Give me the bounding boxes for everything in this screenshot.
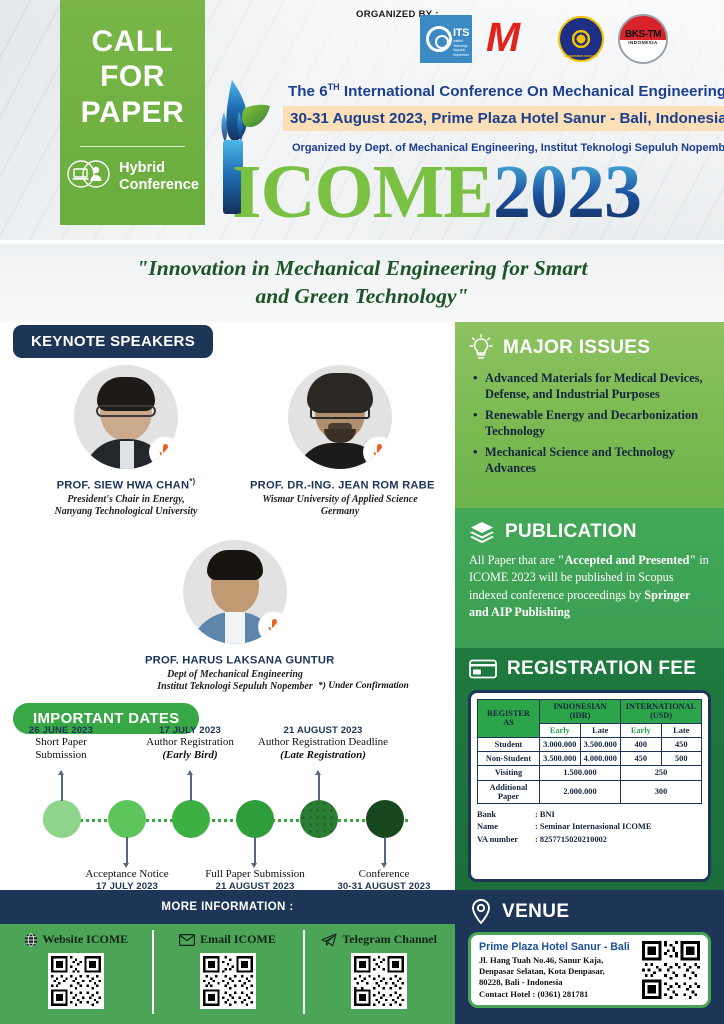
additional-paper-usd: 300 <box>621 780 702 804</box>
table-subheader-usd-early: Early <box>621 723 662 737</box>
additional-paper-line1: Additional <box>490 783 528 792</box>
registration-fee-card: REGISTER AS INDONESIAN (IDR) INTERNATION… <box>468 690 711 882</box>
timeline-desc-1: Short Paper Submission <box>5 736 117 762</box>
website-qr-image <box>51 956 101 1006</box>
speaker-affiliation-line2-1: Nanyang Technological University <box>55 506 198 517</box>
telegram-label: Telegram Channel <box>342 932 437 947</box>
bkstm-logo: BKS-TM INDONESIA <box>618 14 668 64</box>
timeline-desc-5: Author Registration Deadline (Late Regis… <box>236 736 410 762</box>
table-row: Additional Paper 2.000.000 300 <box>478 780 702 804</box>
table-row: Student 3.000.000 3.500.000 400 450 <box>478 737 702 751</box>
speaker-photo-2 <box>288 365 392 469</box>
timeline-desc-2: Acceptance Notice <box>62 868 192 881</box>
visiting-usd: 250 <box>621 766 702 780</box>
timeline-stem-1 <box>61 775 63 801</box>
more-information-bar: MORE INFORMATION : <box>0 890 455 924</box>
website-label: Website ICOME <box>43 932 129 947</box>
speaker-mic-icon-2 <box>364 437 392 467</box>
keynote-speakers-heading: KEYNOTE SPEAKERS <box>13 325 213 358</box>
icome-logo-year: 2023 <box>493 158 641 226</box>
timeline-dot-4 <box>236 800 274 838</box>
timeline-desc-line1-1: Short Paper <box>35 736 87 748</box>
email-qr-code[interactable] <box>200 953 256 1009</box>
speaker-photo-3 <box>183 540 287 644</box>
conference-tagline: "Innovation in Mechanical Engineering fo… <box>0 244 724 322</box>
venue-address-line1: Jl. Hang Tuah No.46, Sanur Kaja, <box>479 955 603 965</box>
universitas-udayana-logo: UNIVERSITAS UDAYANA <box>558 16 604 62</box>
speaker-affiliation-line1-2: Wismar University of Applied Science <box>262 494 417 505</box>
venue-contact: Contact Hotel : (0361) 281781 <box>479 989 588 999</box>
major-issue-item: Mechanical Science and Technology Advanc… <box>473 444 710 477</box>
register-as-line1: REGISTER <box>487 709 530 718</box>
publication-text-part1: All Paper that are <box>469 553 558 567</box>
table-subheader-idr-early: Early <box>540 723 581 737</box>
major-issue-item: Advanced Materials for Medical Devices, … <box>473 370 710 403</box>
international-line1: INTERNATIONAL <box>626 702 696 711</box>
student-idr-late: 3.500.000 <box>580 737 621 751</box>
speaker-name-2: PROF. DR.-ING. JEAN ROM RABE <box>250 477 430 492</box>
timeline-date-5: 21 AUGUST 2023 <box>236 725 410 736</box>
speaker-card-3: PROF. HARUS LAKSANA GUNTUR Dept of Mecha… <box>145 540 325 694</box>
conference-date-venue: 30-31 August 2023, Prime Plaza Hotel San… <box>290 110 724 127</box>
venue-title: VENUE <box>502 901 569 923</box>
bank-key: Bank <box>477 809 535 821</box>
contact-channel-email[interactable]: Email ICOME <box>152 924 304 1024</box>
major-issues-panel: MAJOR ISSUES Advanced Materials for Medi… <box>455 322 724 508</box>
registration-fee-table: REGISTER AS INDONESIAN (IDR) INTERNATION… <box>477 699 702 804</box>
timeline-arrow-3 <box>187 770 193 775</box>
email-label-row: Email ICOME <box>179 932 276 947</box>
speaker-affiliation-3: Dept of Mechanical Engineering Institut … <box>145 669 325 694</box>
lightbulb-icon <box>469 334 493 362</box>
conference-date-band: 30-31 August 2023, Prime Plaza Hotel San… <box>283 106 724 131</box>
venue-card: Prime Plaza Hotel Sanur - Bali Jl. Hang … <box>468 932 711 1008</box>
table-header-register-as: REGISTER AS <box>478 700 540 738</box>
more-information-body: Website ICOME <box>0 924 455 1024</box>
speaker-card-1: PROF. SIEW HWA CHAN*) President's Chair … <box>46 365 206 519</box>
timeline-arrow-1 <box>58 770 64 775</box>
publication-panel: PUBLICATION All Paper that are "Accepted… <box>455 508 724 648</box>
additional-paper-idr: 2.000.000 <box>540 780 621 804</box>
bkstm-logo-subtext: INDONESIA <box>620 40 666 45</box>
publication-title: PUBLICATION <box>505 521 637 543</box>
map-pin-icon <box>469 898 493 926</box>
contact-channel-website[interactable]: Website ICOME <box>0 924 152 1024</box>
row-label-additional-paper: Additional Paper <box>478 780 540 804</box>
timeline-desc-line2-3: (Early Bird) <box>162 749 217 761</box>
timeline-desc-line2-5: (Late Registration) <box>280 749 366 761</box>
right-column: MAJOR ISSUES Advanced Materials for Medi… <box>455 322 724 890</box>
speaker-name-text-3: PROF. HARUS LAKSANA GUNTUR <box>145 655 334 667</box>
student-usd-early: 400 <box>621 737 662 751</box>
venue-qr-code[interactable] <box>642 941 700 999</box>
table-header-international: INTERNATIONAL (USD) <box>621 700 702 724</box>
hybrid-conference-row: Hybrid Conference <box>60 159 205 194</box>
register-as-line2: AS <box>503 718 514 727</box>
its-logo-text: ITS <box>453 27 469 39</box>
timeline-label-6: Conference 30-31 AUGUST 2023 <box>314 868 454 892</box>
left-column: KEYNOTE SPEAKERS PROF. SIEW HWA CHAN*) P… <box>0 322 455 890</box>
speaker-affiliation-line2-3: Institut Teknologi Sepuluh Nopember <box>157 681 313 692</box>
speaker-name-text-1: PROF. SIEW HWA CHAN <box>57 480 190 492</box>
hybrid-label-line2: Conference <box>119 177 199 193</box>
speaker-name-text-2: PROF. DR.-ING. JEAN ROM RABE <box>250 480 435 492</box>
registration-fee-header: REGISTRATION FEE <box>455 648 724 688</box>
major-issues-title: MAJOR ISSUES <box>503 337 650 359</box>
speaker-card-2: PROF. DR.-ING. JEAN ROM RABE Wismar Univ… <box>250 365 430 519</box>
venue-text-block: Prime Plaza Hotel Sanur - Bali Jl. Hang … <box>479 941 636 999</box>
cfp-line-3: PAPER <box>60 95 205 130</box>
row-label-visiting: Visiting <box>478 766 540 780</box>
telegram-qr-image <box>354 956 404 1006</box>
important-dates-timeline: 26 JUNE 2023 Short Paper Submission Acce… <box>0 737 455 887</box>
additional-paper-line2: Paper <box>498 792 519 801</box>
timeline-desc-line1-3: Author Registration <box>146 736 234 748</box>
speaker-affiliation-2: Wismar University of Applied Science Ger… <box>250 494 430 519</box>
timeline-date-1: 26 JUNE 2023 <box>5 725 117 736</box>
major-issues-list: Advanced Materials for Medical Devices, … <box>473 370 710 476</box>
its-gear-icon <box>426 26 452 52</box>
table-row: Non-Student 3.500.000 4.000.000 450 500 <box>478 752 702 766</box>
udayana-logo-text: UNIVERSITAS UDAYANA <box>560 54 602 58</box>
speaker-affiliation-1: President's Chair in Energy, Nanyang Tec… <box>46 494 206 519</box>
international-line2: (USD) <box>650 711 672 720</box>
website-qr-code[interactable] <box>48 953 104 1009</box>
speaker-affiliation-line1-3: Dept of Mechanical Engineering <box>167 669 303 680</box>
telegram-label-row: Telegram Channel <box>321 932 437 947</box>
email-qr-image <box>203 956 253 1006</box>
table-header-row-1: REGISTER AS INDONESIAN (IDR) INTERNATION… <box>478 700 702 724</box>
hybrid-conference-label: Hybrid Conference <box>119 160 199 193</box>
timeline-stem-4 <box>254 837 256 863</box>
venue-address-line2: Denpasar Selatan, Kota Denpasar, <box>479 966 605 976</box>
timeline-dot-5 <box>300 800 338 838</box>
stack-layers-icon <box>469 520 495 544</box>
speaker-name-1: PROF. SIEW HWA CHAN*) <box>46 477 206 492</box>
bank-row: Bank : BNI <box>477 809 702 821</box>
bank-value: : 8257715020210002 <box>535 834 607 846</box>
speaker-star-1: *) <box>189 477 195 486</box>
conference-title-pre: The 6 <box>288 83 328 100</box>
student-usd-late: 450 <box>661 737 702 751</box>
venue-address: Jl. Hang Tuah No.46, Sanur Kaja, Denpasa… <box>479 955 636 1000</box>
timeline-stem-5 <box>318 775 320 801</box>
timeline-desc-line2-1: Submission <box>35 749 86 761</box>
timeline-dot-2 <box>108 800 146 838</box>
organizer-logos: ITS Institut Teknologi Sepuluh Nopember … <box>420 14 668 64</box>
timeline-stem-6 <box>384 837 386 863</box>
non-student-usd-early: 450 <box>621 752 662 766</box>
row-label-student: Student <box>478 737 540 751</box>
venue-panel: VENUE Prime Plaza Hotel Sanur - Bali Jl.… <box>455 890 724 1024</box>
icome-wordmark: ICOME 2023 <box>232 158 641 226</box>
venue-address-line3: 80228, Bali - Indonesia <box>479 977 563 987</box>
visiting-idr: 1.500.000 <box>540 766 621 780</box>
bank-row: Name : Seminar Internasional ICOME <box>477 821 702 833</box>
its-logo: ITS Institut Teknologi Sepuluh Nopember <box>420 15 472 63</box>
globe-icon <box>24 933 38 947</box>
conference-title-ordinal: TH <box>328 82 340 92</box>
envelope-icon <box>179 934 195 946</box>
telegram-icon <box>321 933 337 947</box>
bank-value: : BNI <box>535 809 555 821</box>
cfp-line-2: FOR <box>60 59 205 94</box>
hybrid-conference-icon <box>66 159 112 194</box>
table-header-indonesian: INDONESIAN (IDR) <box>540 700 621 724</box>
bank-value: : Seminar Internasional ICOME <box>535 821 651 833</box>
row-label-non-student: Non-Student <box>478 752 540 766</box>
speaker-photo-1 <box>74 365 178 469</box>
timeline-dot-6 <box>366 800 404 838</box>
speaker-mic-icon-3 <box>259 612 287 642</box>
venue-header: VENUE <box>455 890 724 930</box>
bank-key: VA number <box>477 834 535 846</box>
non-student-idr-early: 3.500.000 <box>540 752 581 766</box>
speaker-mic-icon-1 <box>150 437 178 467</box>
timeline-dot-3 <box>172 800 210 838</box>
website-label-row: Website ICOME <box>24 932 129 947</box>
more-information-heading: MORE INFORMATION : <box>161 901 293 913</box>
table-subheader-usd-late: Late <box>661 723 702 737</box>
timeline-stem-2 <box>126 837 128 863</box>
table-subheader-idr-late: Late <box>580 723 621 737</box>
m-logo: M <box>486 18 544 60</box>
timeline-desc-line1-5: Author Registration Deadline <box>258 736 388 748</box>
timeline-stem-3 <box>190 775 192 801</box>
cfp-divider <box>80 146 185 147</box>
credit-card-icon <box>469 659 497 679</box>
indonesian-line1: INDONESIAN <box>553 702 606 711</box>
tagline-line-2: and Green Technology" <box>255 283 468 311</box>
top-banner: CALL FOR PAPER Hybrid Confe <box>0 0 724 240</box>
timeline-arrow-5 <box>315 770 321 775</box>
publication-body: All Paper that are "Accepted and Present… <box>469 552 710 621</box>
tagline-line-1: "Innovation in Mechanical Engineering fo… <box>137 255 588 283</box>
call-for-paper-box: CALL FOR PAPER Hybrid Confe <box>60 0 205 225</box>
timeline-connector <box>43 819 408 822</box>
email-label: Email ICOME <box>200 932 276 947</box>
hybrid-label-line1: Hybrid <box>119 160 165 176</box>
timeline-label-4: Full Paper Submission 21 AUGUST 2023 <box>188 868 322 892</box>
speaker-affiliation-line1-1: President's Chair in Energy, <box>67 494 184 505</box>
publication-header: PUBLICATION <box>455 508 724 552</box>
venue-hotel-name: Prime Plaza Hotel Sanur - Bali <box>479 941 636 953</box>
poster-root: CALL FOR PAPER Hybrid Confe <box>0 0 724 1024</box>
timeline-dot-1 <box>43 800 81 838</box>
timeline-label-2: Acceptance Notice 17 JULY 2023 <box>62 868 192 892</box>
timeline-label-1: 26 JUNE 2023 Short Paper Submission <box>5 725 117 762</box>
student-idr-early: 3.000.000 <box>540 737 581 751</box>
telegram-qr-code[interactable] <box>351 953 407 1009</box>
bkstm-logo-text: BKS-TM <box>620 29 666 40</box>
bank-information: Bank : BNI Name : Seminar Internasional … <box>477 809 702 846</box>
speaker-name-3: PROF. HARUS LAKSANA GUNTUR <box>145 652 325 667</box>
major-issues-header: MAJOR ISSUES <box>455 322 724 370</box>
contact-channel-telegram[interactable]: Telegram Channel <box>303 924 455 1024</box>
under-confirmation-note: *) Under Confirmation <box>318 681 409 691</box>
registration-fee-title: REGISTRATION FEE <box>507 658 696 680</box>
conference-title-post: International Conference On Mechanical E… <box>340 83 724 100</box>
timeline-desc-6: Conference <box>314 868 454 881</box>
timeline-desc-4: Full Paper Submission <box>188 868 322 881</box>
major-issue-item: Renewable Energy and Decarbonization Tec… <box>473 407 710 440</box>
non-student-idr-late: 4.000.000 <box>580 752 621 766</box>
bank-key: Name <box>477 821 535 833</box>
conference-title-line: The 6TH International Conference On Mech… <box>288 82 724 100</box>
publication-text-highlight: "Accepted and Presented" <box>558 553 697 567</box>
its-logo-subtext: Institut Teknologi Sepuluh Nopember <box>453 39 473 57</box>
speaker-affiliation-line2-2: Germany <box>321 506 359 517</box>
icome-logo-text: ICOME <box>232 158 493 226</box>
bank-row: VA number : 8257715020210002 <box>477 834 702 846</box>
cfp-line-1: CALL <box>60 24 205 59</box>
table-row: Visiting 1.500.000 250 <box>478 766 702 780</box>
non-student-usd-late: 500 <box>661 752 702 766</box>
indonesian-line2: (IDR) <box>570 711 591 720</box>
timeline-label-5: 21 AUGUST 2023 Author Registration Deadl… <box>236 725 410 762</box>
